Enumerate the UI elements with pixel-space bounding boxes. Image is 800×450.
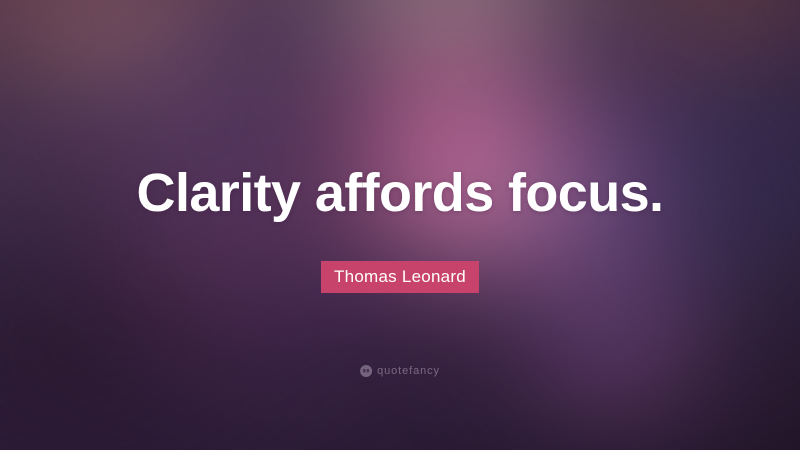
quote-wallpaper: Clarity affords focus. Thomas Leonard qu… (0, 0, 800, 450)
watermark[interactable]: quotefancy (360, 365, 440, 377)
quote-content: Clarity affords focus. Thomas Leonard qu… (0, 0, 800, 450)
author-attribution-badge: Thomas Leonard (321, 261, 479, 293)
watermark-label: quotefancy (377, 366, 440, 377)
quote-mark-circle-icon (360, 365, 372, 377)
quote-text: Clarity affords focus. (0, 163, 800, 223)
